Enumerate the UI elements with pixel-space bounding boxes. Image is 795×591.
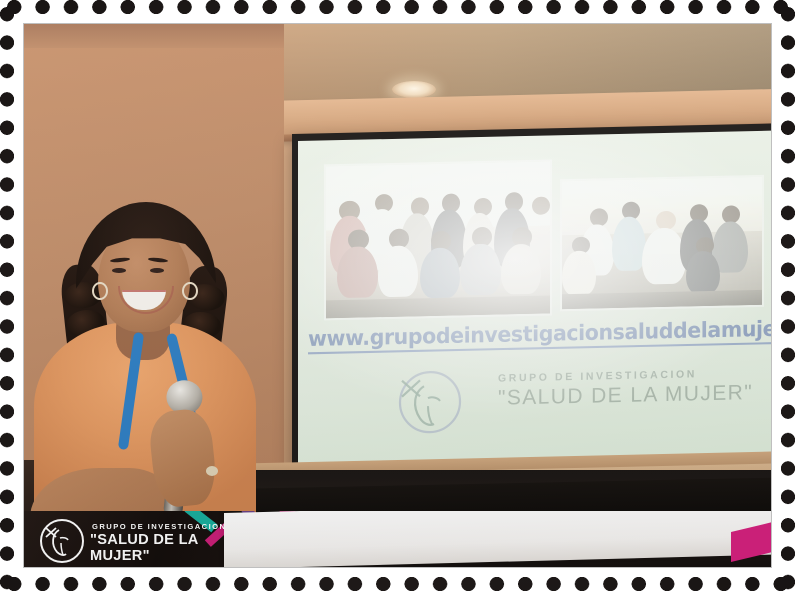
slide-url-band: www.grupodeinvestigacionsaluddelamujer.c… <box>308 315 770 355</box>
eye-left <box>112 268 126 273</box>
wall-left-top-edge <box>24 24 284 48</box>
banner-logo-line2: "SALUD DE LA MUJER" <box>90 532 240 564</box>
projection-screen-surface: www.grupodeinvestigacionsaluddelamujer.c… <box>298 130 771 465</box>
banner-logo-line1: GRUPO DE INVESTIGACION <box>92 522 226 531</box>
speaker-figure <box>30 182 280 567</box>
banner-accent-tail <box>731 522 771 562</box>
banner-white-panel <box>224 511 771 567</box>
banner-logo-circle-icon <box>40 519 84 563</box>
slide-group-photo-left <box>324 159 552 320</box>
ring <box>206 466 218 476</box>
ceiling-downlight-icon <box>392 81 436 98</box>
earring-left <box>92 282 108 300</box>
slide-group-photo-right <box>560 175 764 311</box>
salud-de-la-mujer-logo-icon <box>394 367 462 436</box>
presentation-slide: www.grupodeinvestigacionsaluddelamujer.c… <box>298 130 771 465</box>
eye-right <box>150 268 164 273</box>
slide-logo: GRUPO DE INVESTIGACION "SALUD DE LA MUJE… <box>394 359 764 439</box>
banner-left-logo: GRUPO DE INVESTIGACION "SALUD DE LA MUJE… <box>40 519 240 559</box>
photo-stage: www.grupodeinvestigacionsaluddelamujer.c… <box>0 0 795 591</box>
slide-logo-line2: "SALUD DE LA MUJER" <box>498 381 753 411</box>
earring-right <box>182 282 198 300</box>
slide-url-text: www.grupodeinvestigacionsaluddelamujer.c… <box>308 314 771 354</box>
photograph: www.grupodeinvestigacionsaluddelamujer.c… <box>24 24 771 567</box>
conference-banner: GRUPO DE INVESTIGACION "SALUD DE LA MUJE… <box>24 511 771 567</box>
